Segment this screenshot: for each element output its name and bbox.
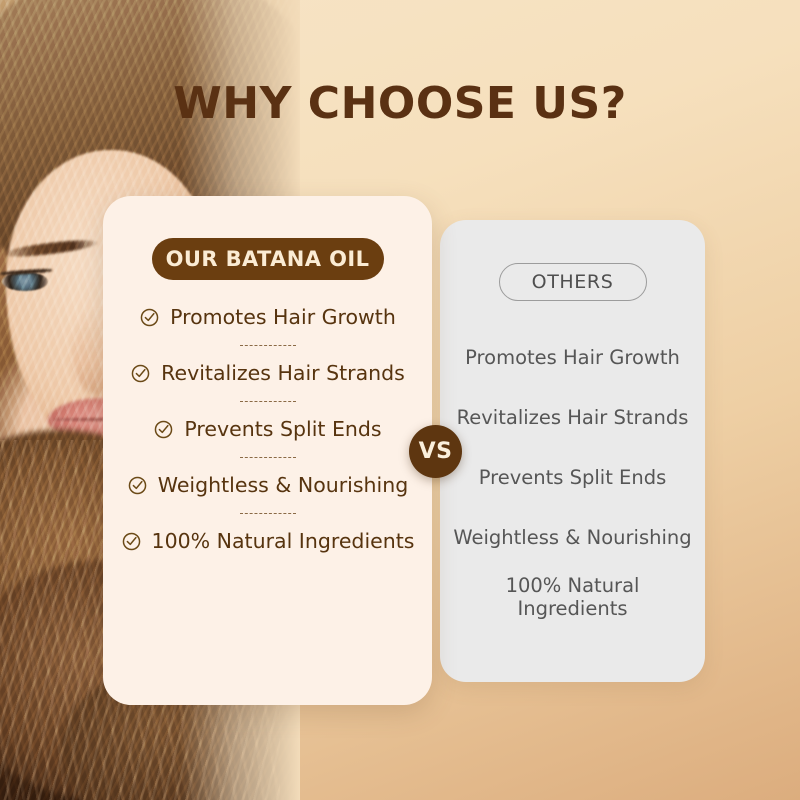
list-divider [103, 390, 432, 412]
others-list-item: Promotes Hair Growth [440, 327, 705, 387]
others-list-item: Weightless & Nourishing [440, 507, 705, 567]
ours-list-item: Weightless & Nourishing [103, 468, 432, 502]
ours-list-item: Promotes Hair Growth [103, 300, 432, 334]
list-divider [103, 334, 432, 356]
ours-list-item: 100% Natural Ingredients [103, 524, 432, 558]
check-circle-icon [127, 475, 148, 496]
others-list-item: 100% Natural Ingredients [440, 567, 705, 627]
others-feature-list: Promotes Hair Growth Revitalizes Hair St… [440, 327, 705, 627]
ours-list-item-label: Prevents Split Ends [184, 417, 381, 441]
ours-feature-list: Promotes Hair Growth Revitalizes Hair St… [103, 300, 432, 558]
ours-list-item: Prevents Split Ends [103, 412, 432, 446]
ours-list-item: Revitalizes Hair Strands [103, 356, 432, 390]
list-divider [103, 446, 432, 468]
check-circle-icon [130, 363, 151, 384]
ours-list-item-label: Weightless & Nourishing [158, 473, 408, 497]
why-choose-us-poster: WHY CHOOSE US? OTHERS Promotes Hair Grow… [0, 0, 800, 800]
others-list-item: Revitalizes Hair Strands [440, 387, 705, 447]
others-card: OTHERS Promotes Hair Growth Revitalizes … [440, 220, 705, 682]
ours-list-item-label: 100% Natural Ingredients [152, 529, 415, 553]
ours-list-item-label: Revitalizes Hair Strands [161, 361, 405, 385]
check-circle-icon [121, 531, 142, 552]
ours-badge[interactable]: OUR BATANA OIL [152, 238, 384, 280]
others-list-item: Prevents Split Ends [440, 447, 705, 507]
list-divider [103, 502, 432, 524]
ours-card: OUR BATANA OIL Promotes Hair Growth Revi… [103, 196, 432, 705]
check-circle-icon [153, 419, 174, 440]
check-circle-icon [139, 307, 160, 328]
ours-list-item-label: Promotes Hair Growth [170, 305, 396, 329]
others-badge[interactable]: OTHERS [499, 263, 647, 301]
vs-badge: VS [409, 425, 462, 478]
page-title: WHY CHOOSE US? [0, 78, 800, 129]
